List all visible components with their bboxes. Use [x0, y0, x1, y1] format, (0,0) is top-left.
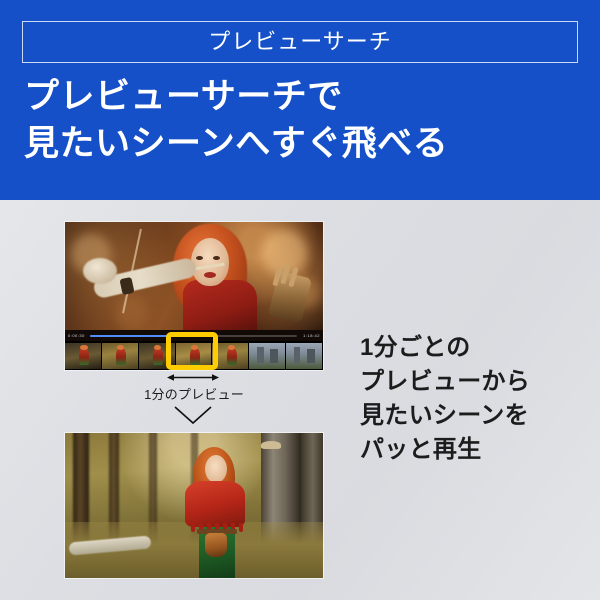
thumbnail-tower: [257, 347, 263, 363]
preview-thumbnail[interactable]: [286, 343, 323, 369]
tree-mushroom: [261, 441, 281, 449]
bokeh-light-icon: [115, 296, 149, 330]
body-text-line-2: プレビューから: [360, 365, 592, 399]
feature-badge-label: プレビューサーチ: [208, 31, 392, 53]
headline: プレビューサーチで 見たいシーンへすぐ飛べる: [24, 74, 584, 168]
headline-line-2: 見たいシーンへすぐ飛べる: [24, 121, 584, 168]
thumbnail-tower: [307, 349, 315, 363]
thumbnail-figure: [227, 348, 237, 365]
feature-badge: プレビューサーチ: [22, 21, 578, 63]
character-glove: [83, 258, 117, 284]
thumbnail-figure-head: [80, 345, 87, 350]
character-eye: [196, 256, 203, 260]
character-face: [205, 455, 227, 483]
body-text-block: 1分ごとの プレビューから 見たいシーンを パッと再生: [360, 331, 592, 467]
character-shawl: [185, 481, 245, 527]
preview-thumbnail[interactable]: [65, 343, 102, 369]
body-text-line-4: パッと再生: [360, 433, 592, 467]
chevron-down-icon: [173, 405, 213, 425]
header-banner: プレビューサーチ プレビューサーチで 見たいシーンへすぐ飛べる: [0, 0, 600, 200]
span-arrow-icon: [167, 373, 219, 382]
character-lips: [204, 272, 216, 278]
shawl-fringe: [239, 523, 243, 532]
body-text-line-1: 1分ごとの: [360, 331, 592, 365]
body-text-line-3: 見たいシーンを: [360, 399, 592, 433]
thumbnail-figure: [79, 348, 89, 365]
shawl-fringe: [191, 523, 195, 532]
video-player-preview: 0:00:30 1:18:42: [65, 222, 323, 370]
thumbnail-tower: [294, 347, 300, 363]
thumbnail-tower: [270, 349, 278, 363]
selected-preview-highlight: [166, 332, 218, 370]
selected-scene-photo: [65, 433, 323, 578]
preview-thumbnail[interactable]: [102, 343, 139, 369]
timecode-total: 1:18:42: [303, 332, 320, 339]
video-scene-archer: [65, 222, 323, 330]
preview-search-panel: プレビューサーチ プレビューサーチで 見たいシーンへすぐ飛べる: [0, 0, 600, 600]
preview-thumbnail[interactable]: [249, 343, 286, 369]
timecode-current: 0:00:30: [68, 332, 85, 339]
character-torso: [183, 280, 257, 330]
character-eye: [213, 256, 220, 260]
thumbnail-figure: [116, 348, 126, 365]
preview-duration-caption: 1分のプレビュー: [65, 384, 323, 403]
thumbnail-figure: [153, 348, 163, 365]
headline-line-1: プレビューサーチで: [24, 74, 584, 121]
character-satchel: [205, 533, 227, 557]
